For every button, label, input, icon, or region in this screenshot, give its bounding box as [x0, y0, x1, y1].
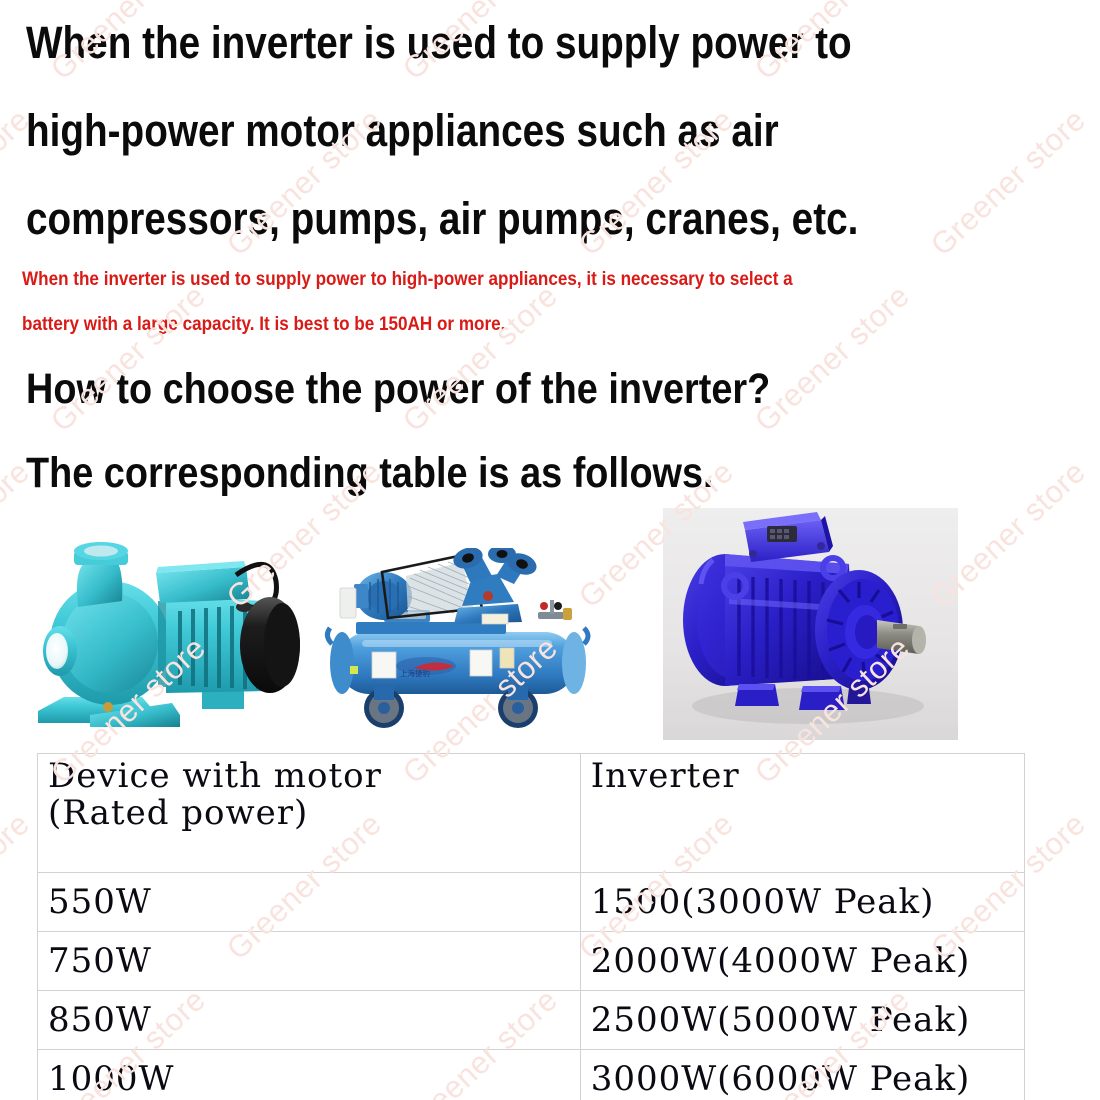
device-power-value: 850W [48, 991, 152, 1049]
headline-line-2: high-power motor appliances such as air [26, 108, 779, 153]
header-cell-inverter: Inverter [580, 754, 1024, 873]
water-pump-illustration [30, 515, 330, 745]
product-infographic-page: When the inverter is used to supply powe… [0, 0, 1100, 1100]
header-cell-device: Device with motor (Rated power) [38, 754, 581, 873]
inverter-power-value: 3000W(6000W Peak) [591, 1050, 971, 1100]
watermark-text: Greener store [0, 806, 37, 967]
watermark-text: Greener store [44, 278, 213, 439]
electric-motor-illustration [663, 508, 958, 740]
table-intro-heading: The corresponding table is as follows. [26, 452, 714, 495]
table-row: 750W 2000W(4000W Peak) [38, 932, 1025, 991]
cell-device-power: 550W [38, 873, 581, 932]
watermark-text: Greener store [748, 278, 917, 439]
product-photo-electric-motor [663, 508, 958, 740]
cell-inverter-power: 3000W(6000W Peak) [580, 1050, 1024, 1100]
watermark-text: Greener store [396, 278, 565, 439]
device-power-value: 1000W [48, 1050, 174, 1100]
product-photo-air-compressor: 上海捷豹 [322, 548, 617, 743]
cell-device-power: 1000W [38, 1050, 581, 1100]
svg-text:上海捷豹: 上海捷豹 [400, 668, 430, 678]
inverter-power-table: Device with motor (Rated power) Inverter… [37, 753, 1025, 1100]
question-heading: How to choose the power of the inverter? [26, 368, 770, 411]
table-row: 550W 1500(3000W Peak) [38, 873, 1025, 932]
table-row: 850W 2500W(5000W Peak) [38, 991, 1025, 1050]
inverter-power-value: 2000W(4000W Peak) [591, 932, 971, 990]
product-photo-water-pump [30, 515, 330, 745]
table-row: 1000W 3000W(6000W Peak) [38, 1050, 1025, 1100]
notice-line-2: battery with a large capacity. It is bes… [22, 315, 505, 334]
notice-line-1: When the inverter is used to supply powe… [22, 270, 793, 289]
header-device-line-1: Device with motor [48, 758, 580, 795]
table-header-row: Device with motor (Rated power) Inverter [38, 754, 1025, 873]
inverter-power-value: 1500(3000W Peak) [591, 873, 935, 931]
cell-device-power: 850W [38, 991, 581, 1050]
cell-device-power: 750W [38, 932, 581, 991]
device-power-value: 550W [48, 873, 152, 931]
cell-inverter-power: 2500W(5000W Peak) [580, 991, 1024, 1050]
inverter-power-value: 2500W(5000W Peak) [591, 991, 971, 1049]
air-compressor-illustration: 上海捷豹 [322, 548, 617, 743]
headline-line-1: When the inverter is used to supply powe… [26, 20, 852, 65]
watermark-text: Greener store [924, 102, 1093, 263]
cell-inverter-power: 2000W(4000W Peak) [580, 932, 1024, 991]
table-body: Device with motor (Rated power) Inverter… [38, 754, 1025, 1100]
headline-line-3: compressors, pumps, air pumps, cranes, e… [26, 196, 858, 241]
device-power-value: 750W [48, 932, 152, 990]
cell-inverter-power: 1500(3000W Peak) [580, 873, 1024, 932]
header-device-line-2: (Rated power) [48, 795, 580, 832]
